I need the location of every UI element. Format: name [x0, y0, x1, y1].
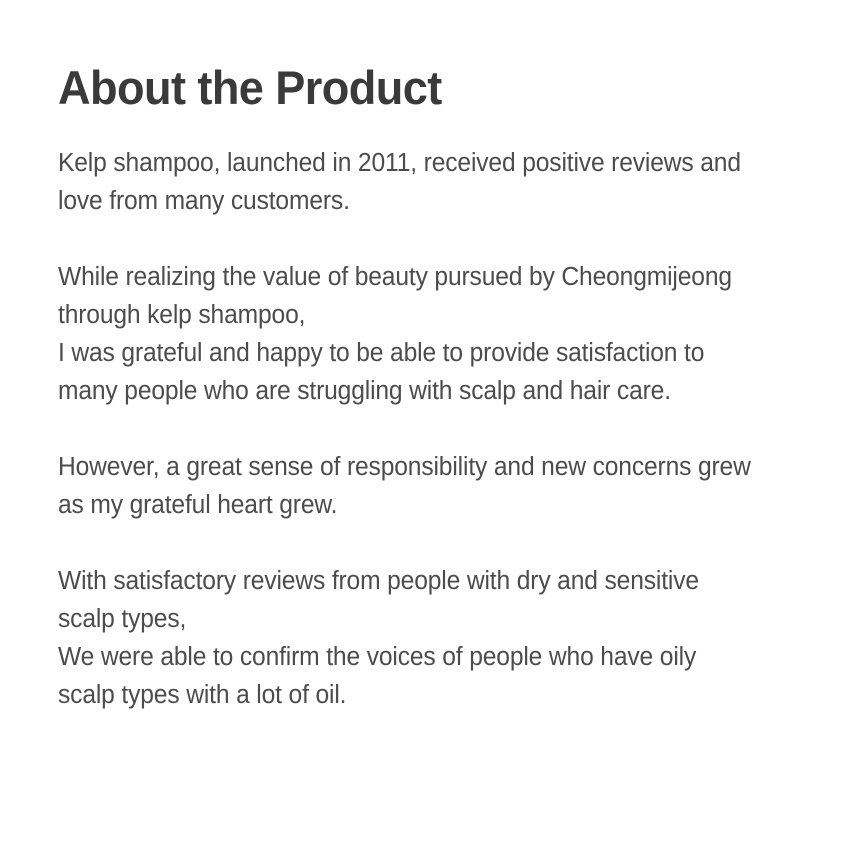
paragraph-1-line-2: love from many customers.	[58, 182, 764, 220]
paragraph-4-line-2: scalp types,	[58, 600, 764, 638]
paragraph-2-line-1: While realizing the value of beauty purs…	[58, 258, 764, 296]
paragraph-1: Kelp shampoo, launched in 2011, received…	[58, 144, 764, 220]
paragraph-3-line-2: as my grateful heart grew.	[58, 486, 764, 524]
paragraph-4-line-3: We were able to confirm the voices of pe…	[58, 638, 764, 676]
paragraph-4-line-1: With satisfactory reviews from people wi…	[58, 562, 764, 600]
product-description-body: Kelp shampoo, launched in 2011, received…	[58, 144, 790, 714]
paragraph-3: However, a great sense of responsibility…	[58, 448, 764, 524]
paragraph-2-line-2: through kelp shampoo,	[58, 296, 764, 334]
paragraph-2-line-3: I was grateful and happy to be able to p…	[58, 334, 764, 372]
paragraph-2-line-4: many people who are struggling with scal…	[58, 372, 764, 410]
page-title: About the Product	[58, 0, 761, 115]
paragraph-3-line-1: However, a great sense of responsibility…	[58, 448, 764, 486]
product-description-page: About the Product Kelp shampoo, launched…	[0, 0, 860, 860]
paragraph-4-line-4: scalp types with a lot of oil.	[58, 676, 764, 714]
paragraph-2: While realizing the value of beauty purs…	[58, 258, 764, 410]
paragraph-4: With satisfactory reviews from people wi…	[58, 562, 764, 714]
paragraph-1-line-1: Kelp shampoo, launched in 2011, received…	[58, 144, 764, 182]
